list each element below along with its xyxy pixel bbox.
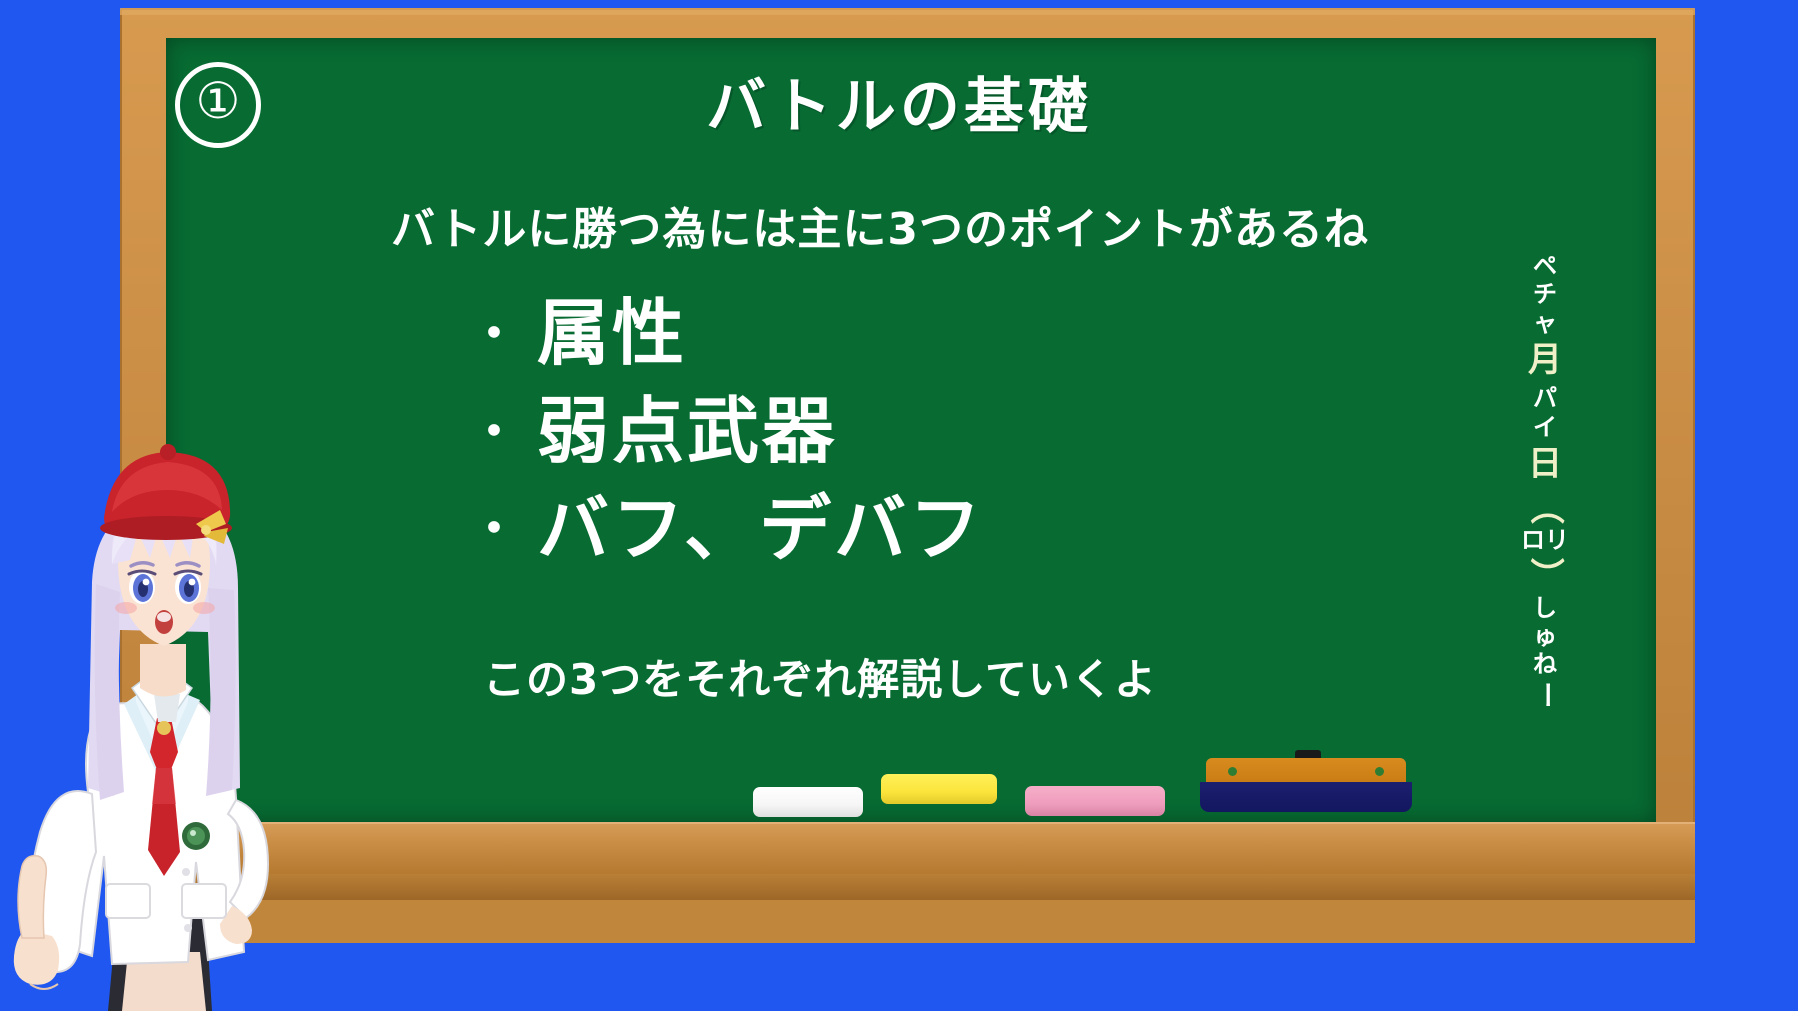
bullet-label: 弱点武器: [537, 393, 837, 471]
pink-chalk: [1025, 786, 1165, 816]
chalk-ledge-shadow: [120, 874, 1695, 900]
slide-title: バトルの基礎: [0, 58, 1798, 145]
side-note-char: （: [1528, 490, 1563, 524]
side-note-char: 日: [1528, 447, 1562, 482]
bullet-marker-icon: ・: [470, 505, 521, 553]
side-note-char: し: [1533, 596, 1557, 620]
side-note-char: イ: [1533, 415, 1557, 439]
side-note-char: ね: [1533, 652, 1557, 676]
bullet-list: ・ 属性 ・ 弱点武器 ・ バフ、デバフ: [470, 295, 1370, 588]
list-item: ・ バフ、デバフ: [470, 491, 1370, 569]
eraser-screw-icon: [1228, 767, 1237, 776]
bullet-marker-icon: ・: [470, 310, 521, 358]
side-note-char: ー: [1531, 681, 1559, 708]
bullet-label: バフ、デバフ: [537, 491, 984, 569]
side-note-char: ゅ: [1533, 624, 1557, 648]
side-note-char: 月: [1528, 343, 1562, 378]
side-note-char: ペ: [1533, 254, 1557, 278]
side-note-char: チ: [1533, 282, 1557, 306]
yellow-chalk: [881, 774, 997, 804]
vertical-side-note: ペ チ ャ 月 パ イ 日 （ ロリ ） し ゅ ね ー: [1490, 252, 1600, 710]
bullet-marker-icon: ・: [470, 408, 521, 456]
chalk-ledge-foot: [120, 900, 1695, 943]
slide-canvas: ① バトルの基礎 バトルに勝つ為には主に3つのポイントがあるね ・ 属性 ・ 弱…: [0, 0, 1798, 1011]
frame-highlight: [120, 8, 1695, 15]
list-item: ・ 属性: [470, 295, 1370, 373]
list-item: ・ 弱点武器: [470, 393, 1370, 471]
chalk-ledge: [120, 822, 1695, 876]
eraser-felt: [1200, 782, 1412, 812]
side-note-char: ）: [1528, 557, 1563, 591]
side-note-char: ャ: [1533, 311, 1557, 335]
side-note-char: パ: [1533, 386, 1557, 410]
slide-subtitle: バトルに勝つ為には主に3つのポイントがあるね: [0, 193, 1760, 257]
board-eraser: [1200, 758, 1412, 810]
eraser-screw-icon: [1375, 767, 1384, 776]
eraser-top: [1206, 758, 1406, 784]
white-chalk: [753, 787, 863, 817]
bullet-label: 属性: [537, 295, 687, 373]
side-note-char: ロリ: [1521, 528, 1569, 552]
teacher-character-illustration: [0, 432, 310, 1011]
